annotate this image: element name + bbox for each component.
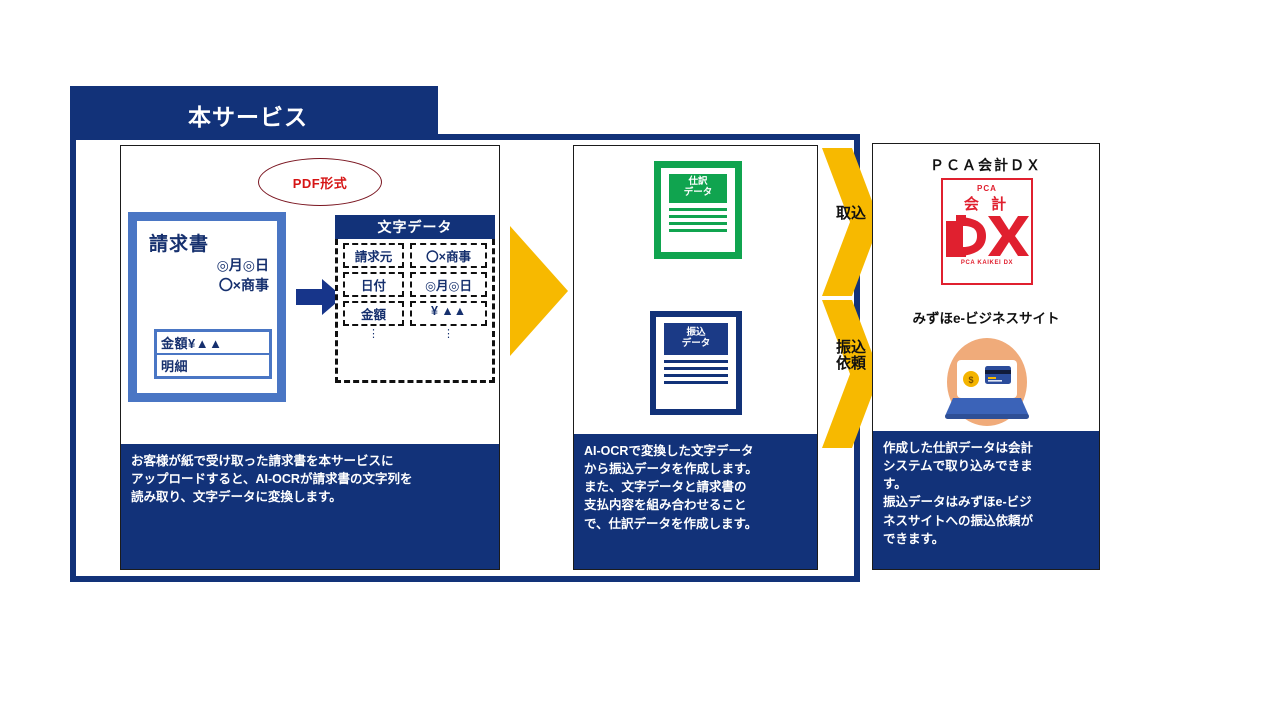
journal-data-lines	[669, 208, 727, 232]
text-data-body: 請求元 〇×商事 日付 ◎月◎日 金額 ¥ ▲▲ ⋮ ⋮	[335, 239, 495, 383]
continuation-dots-value: ⋮	[410, 330, 487, 340]
table-row: 請求元 〇×商事	[343, 243, 487, 268]
svg-text:$: $	[968, 375, 973, 385]
diagram-canvas: 本サービス お客様が紙で受け取った請求書を本サービスに アップロードすると、AI…	[0, 0, 1280, 720]
journal-data-label-line2: データ	[684, 188, 713, 199]
panel-destination-systems: ＰＣＡ会計ＤＸ PCA 会 計 PCA KAIKEI DX みずほe-ビジネスサ…	[872, 143, 1100, 570]
text-data-key: 請求元	[343, 243, 404, 268]
invoice-detail-row: 明細	[157, 355, 269, 376]
yellow-triangle-icon	[510, 226, 568, 356]
continuation-dots-key: ⋮	[343, 330, 404, 340]
journal-data-label: 仕訳 データ	[669, 174, 727, 203]
invoice-title: 請求書	[149, 229, 209, 256]
text-data-key: 日付	[343, 272, 404, 297]
panel-ocr-caption: お客様が紙で受け取った請求書を本サービスに アップロードすると、AI-OCRが請…	[121, 444, 499, 569]
invoice-amount-row: 金額¥▲▲	[157, 332, 269, 353]
pca-logo-top-text: PCA	[943, 184, 1031, 193]
transfer-data-document-inner: 振込 データ	[656, 317, 736, 409]
journal-data-document: 仕訳 データ	[654, 161, 742, 259]
invoice-date: ◎月◎日	[217, 255, 269, 275]
invoice-corporation: 〇×商事	[219, 275, 269, 295]
text-data-key: 金額	[343, 301, 404, 326]
invoice-card: 請求書 ◎月◎日 〇×商事 金額¥▲▲ 明細	[128, 212, 286, 402]
text-data-value: ◎月◎日	[410, 272, 487, 297]
text-data-value: 〇×商事	[410, 243, 487, 268]
table-row: 金額 ¥ ▲▲	[343, 301, 487, 326]
panel-data-generation-caption: AI-OCRで変換した文字データ から振込データを作成します。 また、文字データ…	[574, 434, 817, 569]
transfer-data-label-line2: データ	[682, 339, 711, 350]
pca-product-title: ＰＣＡ会計ＤＸ	[873, 155, 1099, 175]
mizuho-service-title: みずほe-ビジネスサイト	[873, 307, 1099, 327]
text-data-continuation: ⋮ ⋮	[343, 330, 487, 340]
pca-kaikei-dx-logo: PCA 会 計 PCA KAIKEI DX	[941, 178, 1033, 285]
laptop-payment-icon: $	[937, 334, 1037, 430]
journal-data-document-inner: 仕訳 データ	[661, 168, 735, 252]
pca-logo-dx-mark	[943, 213, 1031, 259]
dx-letters-icon	[944, 213, 1030, 259]
transfer-data-lines	[664, 360, 728, 384]
text-data-header: 文字データ	[335, 215, 495, 239]
transfer-data-document: 振込 データ	[650, 311, 742, 415]
service-header-label: 本サービス	[188, 98, 308, 132]
pdf-format-label: PDF形式	[293, 173, 348, 192]
invoice-amount-box: 金額¥▲▲ 明細	[154, 329, 272, 379]
panel-destination-caption: 作成した仕訳データは会計 システムで取り込みできま す。 振込データはみずほe-…	[873, 431, 1099, 569]
service-header-tab: 本サービス	[70, 86, 438, 136]
pdf-format-badge: PDF形式	[258, 158, 382, 206]
pca-logo-kaikei-text: 会 計	[943, 193, 1031, 214]
transfer-data-label: 振込 データ	[664, 323, 728, 355]
text-data-table: 文字データ 請求元 〇×商事 日付 ◎月◎日 金額 ¥ ▲▲ ⋮ ⋮	[335, 215, 495, 383]
table-row: 日付 ◎月◎日	[343, 272, 487, 297]
text-data-value: ¥ ▲▲	[410, 301, 487, 326]
pca-logo-bottom-text: PCA KAIKEI DX	[943, 260, 1031, 266]
invoice-sheet: 請求書 ◎月◎日 〇×商事 金額¥▲▲ 明細	[137, 221, 277, 393]
